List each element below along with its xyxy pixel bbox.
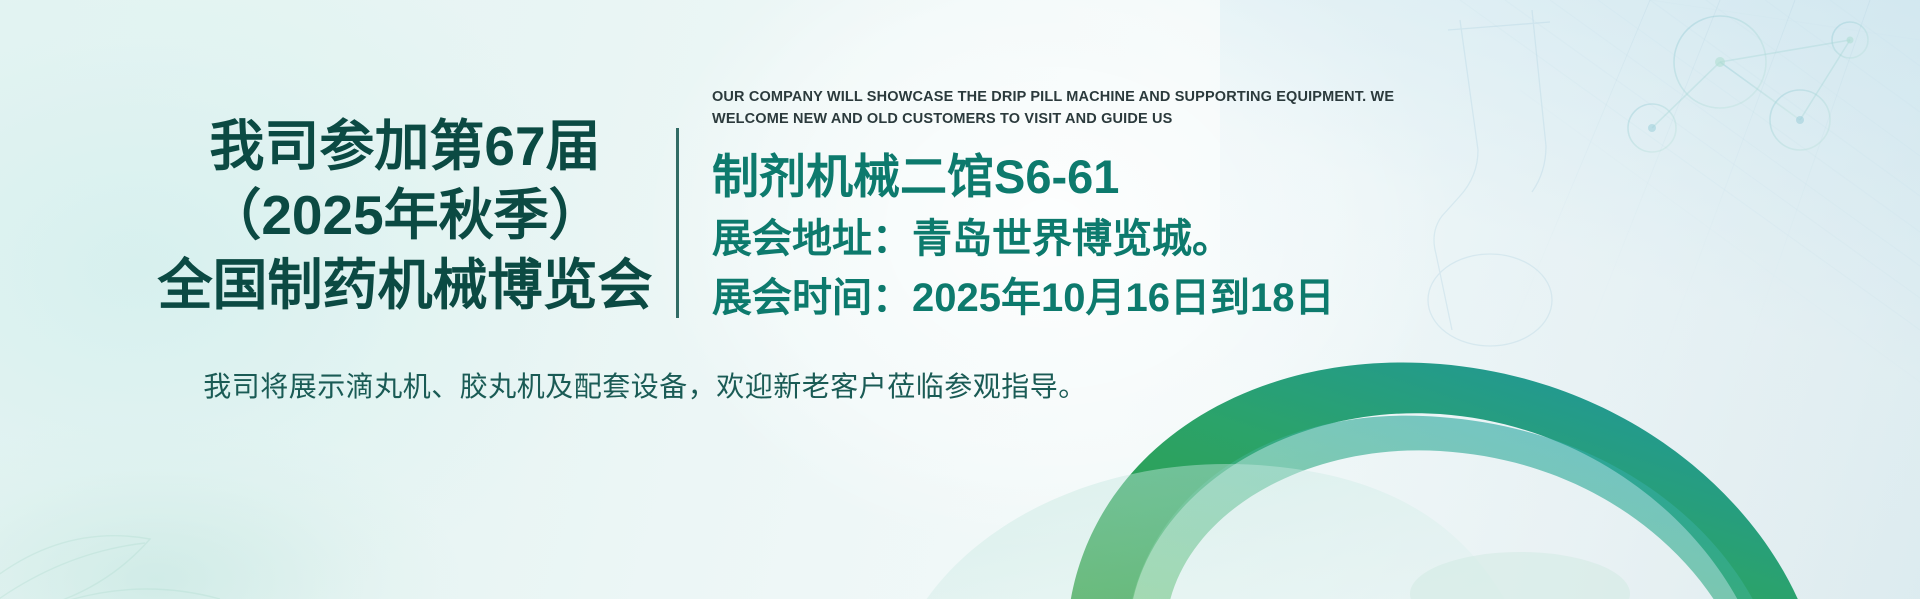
hall-booth-number: 制剂机械二馆S6-61 xyxy=(712,151,1842,204)
main-title-line-1: 我司参加第67届 xyxy=(140,112,670,181)
details-block: OUR COMPANY WILL SHOWCASE THE DRIP PILL … xyxy=(712,86,1842,322)
exhibition-banner: 我司参加第67届 （2025年秋季） 全国制药机械博览会 OUR COMPANY… xyxy=(0,0,1920,599)
english-note: OUR COMPANY WILL SHOWCASE THE DRIP PILL … xyxy=(712,86,1457,131)
main-title-line-3: 全国制药机械博览会 xyxy=(140,251,670,320)
tagline: 我司将展示滴丸机、胶丸机及配套设备，欢迎新老客户莅临参观指导。 xyxy=(0,365,1290,405)
banner-content: 我司参加第67届 （2025年秋季） 全国制药机械博览会 OUR COMPANY… xyxy=(0,0,1920,599)
venue-address: 展会地址：青岛世界博览城。 xyxy=(712,215,1842,263)
event-date: 展会时间：2025年10月16日到18日 xyxy=(712,274,1842,322)
main-title: 我司参加第67届 （2025年秋季） 全国制药机械博览会 xyxy=(140,112,670,320)
main-title-line-2: （2025年秋季） xyxy=(140,181,670,250)
vertical-divider xyxy=(676,128,679,318)
